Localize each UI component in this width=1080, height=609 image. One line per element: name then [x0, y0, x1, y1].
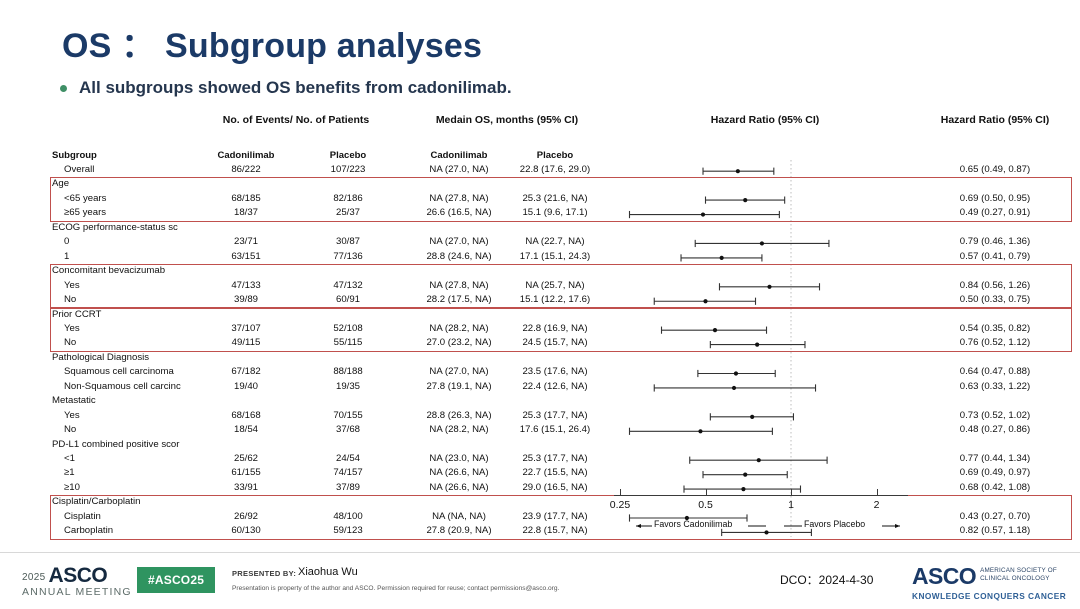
forest-row-marker — [703, 471, 787, 478]
slide-footer: 2025 ASCO ANNUAL MEETING #ASCO25 PRESENT… — [0, 552, 1080, 609]
slide: OS ： Subgroup analyses All subgroups sho… — [0, 0, 1080, 608]
dco-date: DCO：2024-4-30 — [780, 571, 873, 588]
forest-row-marker — [698, 370, 775, 377]
forest-plot-canvas — [0, 112, 1080, 537]
axis-tick-label: 0.5 — [686, 499, 726, 511]
asco-annual-meeting-logo: 2025 ASCO ANNUAL MEETING — [22, 565, 132, 598]
axis-tick-label: 1 — [771, 499, 811, 511]
asco-wordmark: ASCO — [49, 564, 108, 587]
favors-annotations: Favors Cadonilimab Favors Placebo — [614, 518, 914, 534]
asco-year: 2025 — [22, 572, 45, 583]
favors-arrows — [614, 518, 914, 534]
forest-row-marker — [710, 341, 805, 348]
presenter-name: Xiaohua Wu — [298, 566, 358, 578]
forest-row-marker — [629, 211, 779, 218]
hashtag-badge: #ASCO25 — [137, 567, 215, 593]
asco-annual-text: ANNUAL MEETING — [22, 587, 132, 598]
axis-line — [614, 495, 908, 496]
forest-row-marker — [654, 298, 755, 305]
bullet-text: All subgroups showed OS benefits from ca… — [79, 78, 512, 98]
asco-society-lines: AMERICAN SOCIETY OFCLINICAL ONCOLOGY — [980, 567, 1057, 583]
forest-row-marker — [662, 327, 767, 334]
forest-row-marker — [695, 240, 829, 247]
presented-by-label: PRESENTED BY: — [232, 569, 296, 578]
page-title: OS ： Subgroup analyses — [62, 18, 482, 67]
asco-logo-wordmark: ASCO — [912, 565, 976, 588]
axis-tick — [706, 489, 707, 496]
asco-year-row: 2025 ASCO — [22, 565, 132, 587]
forest-row-marker — [710, 413, 793, 420]
forest-plot-figure: No. of Events/ No. of Patients Medain OS… — [0, 112, 1080, 537]
axis-tick — [791, 489, 792, 496]
plot-axis: 0.250.512 Favors Cadonilimab Favors Plac… — [0, 487, 1080, 547]
forest-row-marker — [681, 254, 762, 261]
bullet-row: All subgroups showed OS benefits from ca… — [60, 78, 512, 98]
forest-row-marker — [629, 428, 772, 435]
asco-tagline: KNOWLEDGE CONQUERS CANCER — [912, 592, 1066, 600]
forest-row-marker — [703, 168, 774, 175]
axis-tick — [620, 489, 621, 496]
forest-row-marker — [706, 197, 785, 204]
axis-tick-label: 0.25 — [600, 499, 640, 511]
axis-tick-label: 2 — [857, 499, 897, 511]
permission-text: Presentation is property of the author a… — [232, 585, 559, 592]
bullet-dot-icon — [60, 85, 67, 92]
axis-tick — [877, 489, 878, 496]
forest-row-marker — [690, 457, 827, 464]
forest-row-marker — [719, 283, 819, 290]
asco-society-logo: ASCOAMERICAN SOCIETY OFCLINICAL ONCOLOGY… — [912, 565, 1066, 600]
